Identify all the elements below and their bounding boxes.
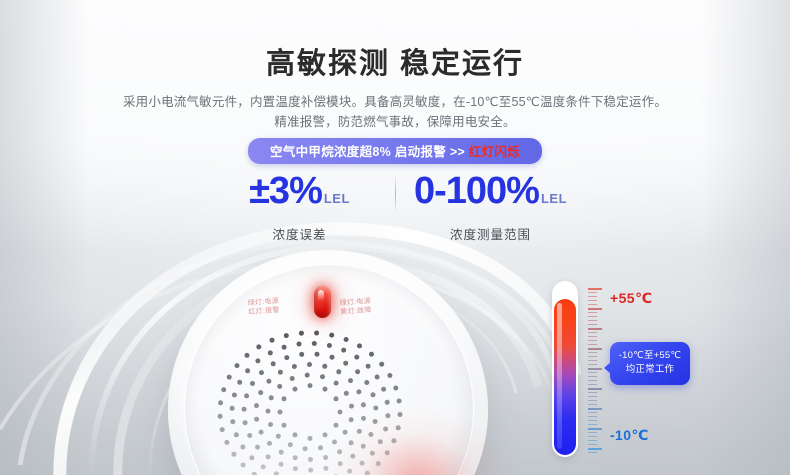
alert-pill-highlight: 红灯闪烁 [469,145,520,159]
thermometer-tick [588,384,597,385]
temperature-range-callout: -10℃至+55℃ 均正常工作 [610,342,690,385]
description-text: 采用小电流气敏元件，内置温度补偿模块。具备高灵敏度，在-10℃至55℃温度条件下… [0,92,790,132]
thermometer-tick [588,380,597,381]
temperature-max-label: +55℃ [610,290,652,307]
thermometer-tick [588,336,597,337]
gas-detector-device: 绿灯:电源 红灯:报警 绿灯:电源 黄灯:故障 [150,238,510,475]
thermometer-tick [588,376,597,377]
alert-pill-row: 空气中甲烷浓度超8% 启动报警 >> 红灯闪烁 [0,138,790,164]
thermometer-tick [588,300,597,301]
thermometer-tick [588,312,597,313]
description-line-1: 采用小电流气敏元件，内置温度补偿模块。具备高灵敏度，在-10℃至55℃温度条件下… [123,95,667,109]
thermometer-tick [588,332,597,333]
thermometer-tick [588,308,602,310]
thermometer-tick [588,388,602,390]
thermometer-tick [588,368,602,370]
thermometer-tick [588,436,597,437]
stat-concentration-error: ±3%LEL 浓度误差 [205,168,395,243]
thermometer-tick [588,396,597,397]
temperature-min-label: -10℃ [610,427,649,444]
callout-line-1: -10℃至+55℃ [614,349,686,363]
thermometer-tick [588,364,597,365]
thermometer-tick [588,292,597,293]
thermometer-tick [588,448,602,450]
led-highlight [318,290,324,301]
stat-unit: LEL [324,191,350,206]
thermometer-tick [588,416,597,417]
thermometer-tick [588,352,597,353]
thermometer-tick [588,392,597,393]
thermometer-tick [588,328,602,330]
description-line-2: 精准报警，防范燃气事故，保障用电安全。 [0,112,790,132]
thermometer-tick [588,440,597,441]
thermometer-tick [588,428,602,430]
stat-number: 0-100% [414,170,539,212]
thermometer-gloss [557,303,562,449]
thermometer-tick [588,404,597,405]
thermometer-tick [588,412,597,413]
alarm-led-indicator [314,286,331,318]
thermometer-tick [588,288,602,290]
alert-pill: 空气中甲烷浓度超8% 启动报警 >> 红灯闪烁 [248,138,542,164]
callout-line-2: 均正常工作 [614,363,686,377]
thermometer-tick [588,340,597,341]
alert-pill-text: 空气中甲烷浓度超8% 启动报警 >> [270,145,465,159]
thermometer-tick [588,372,597,373]
thermometer-tick [588,444,597,445]
product-feature-banner: 高敏探测 稳定运行 采用小电流气敏元件，内置温度补偿模块。具备高灵敏度，在-10… [0,0,790,475]
thermometer-tick [588,452,597,453]
stat-number: ±3% [249,170,322,212]
thermometer-tick [588,296,597,297]
thermometer-tick [588,408,602,410]
thermometer-tick [588,432,597,433]
thermometer-tick [588,420,597,421]
thermometer-tick [588,424,597,425]
stat-measuring-range: 0-100%LEL 浓度测量范围 [396,168,586,243]
led-legend-left: 绿灯:电源 红灯:报警 [247,297,280,317]
thermometer-tick [588,344,597,345]
stat-value: 0-100%LEL [396,168,586,222]
thermometer-tick [588,324,597,325]
thermometer-scale [588,288,604,454]
thermometer-tick [588,316,597,317]
thermometer-tick [588,356,597,357]
thermometer-tick [588,360,597,361]
led-legend-right: 绿灯:电源 黄灯:故障 [339,297,372,317]
thermometer-tick [588,400,597,401]
page-title: 高敏探测 稳定运行 [0,40,790,82]
vent-holes [202,312,418,475]
thermometer-tick [588,320,597,321]
stat-unit: LEL [541,191,567,206]
stats-row: ±3%LEL 浓度误差 0-100%LEL 浓度测量范围 [0,168,790,243]
thermometer-tick [588,348,602,350]
thermometer-tube [552,281,578,457]
stat-value: ±3%LEL [205,168,395,222]
thermometer-tick [588,304,597,305]
